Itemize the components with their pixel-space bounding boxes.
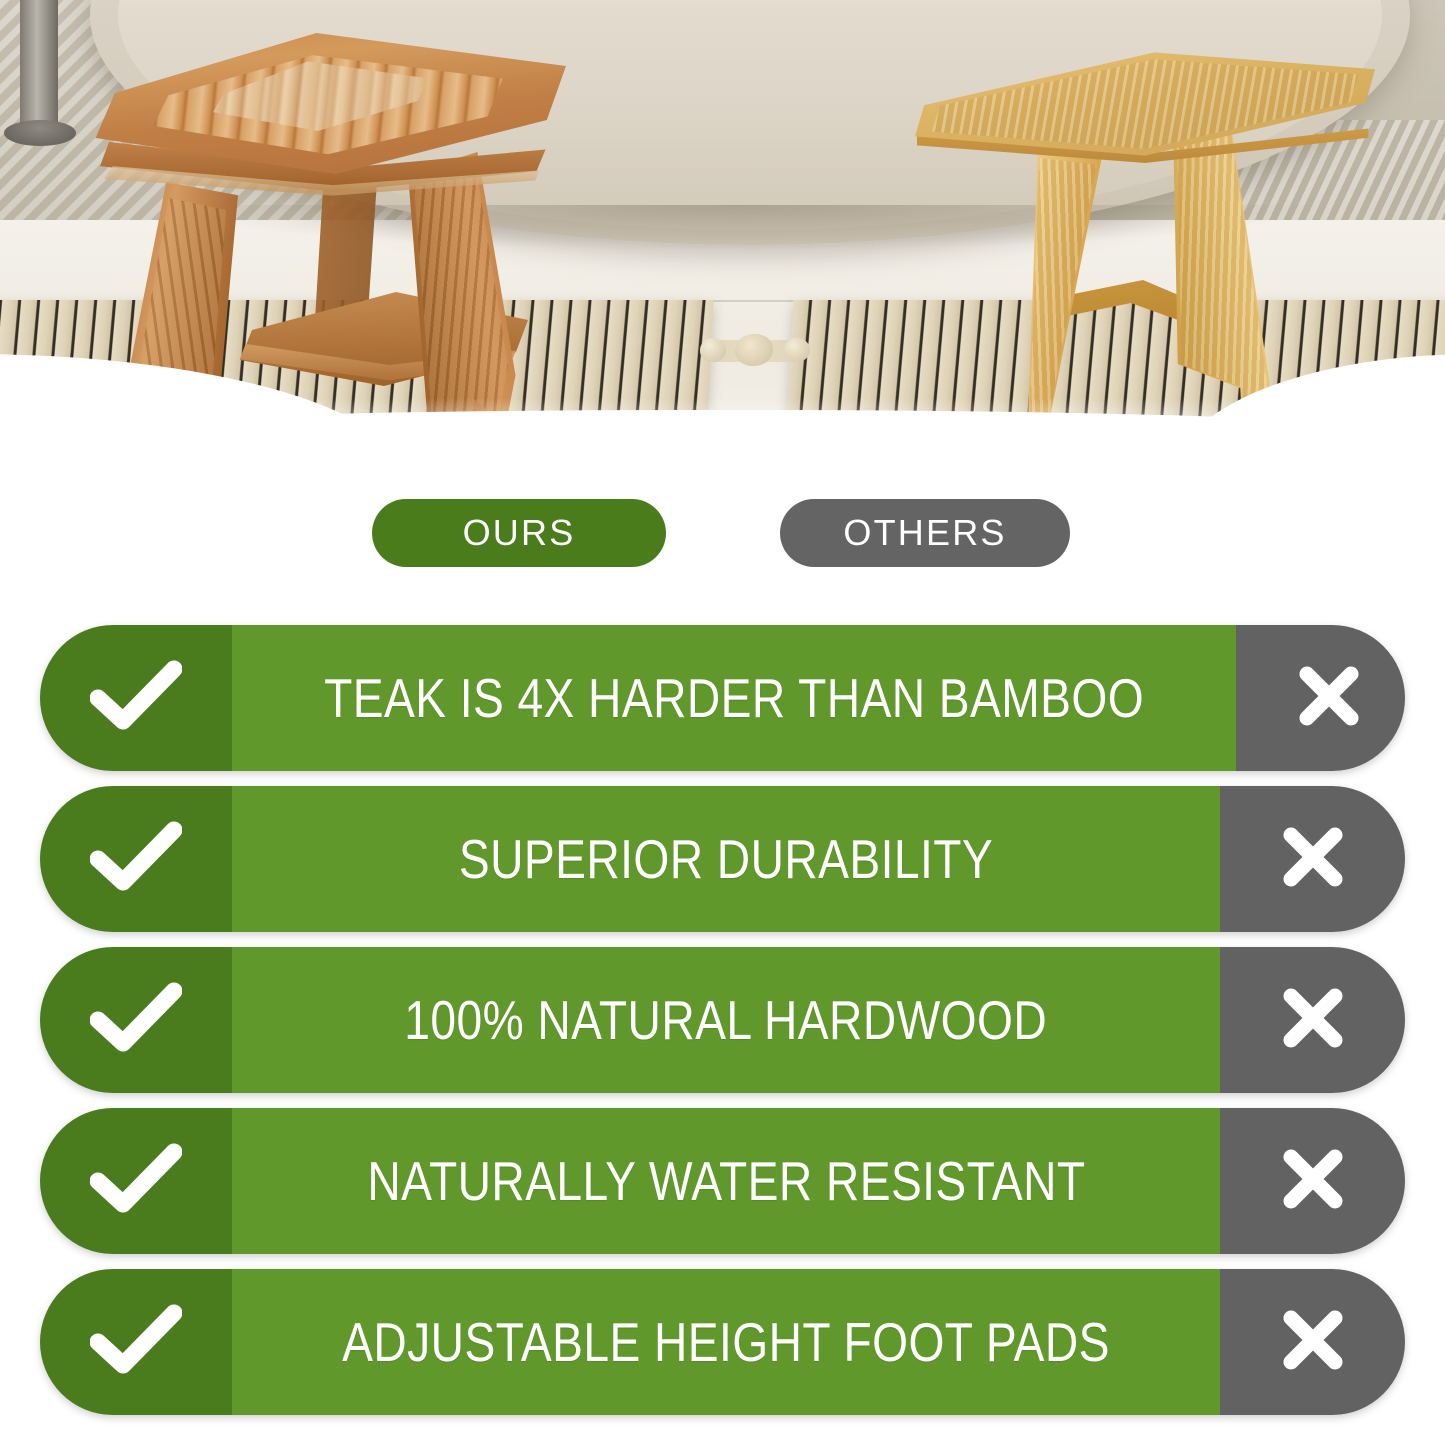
ours-check-cell <box>40 786 232 932</box>
x-icon <box>1280 824 1346 895</box>
ours-check-cell <box>40 947 232 1093</box>
x-icon <box>1280 1307 1346 1378</box>
feature-row: SUPERIOR DURABILITY <box>40 786 1405 932</box>
ours-check-cell <box>40 1269 232 1415</box>
feature-label-cell: 100% NATURAL HARDWOOD <box>232 947 1220 1093</box>
ours-check-cell <box>40 625 232 771</box>
check-icon <box>90 979 182 1062</box>
x-icon <box>1280 1146 1346 1217</box>
rope-knot <box>735 334 773 366</box>
rope-bead <box>784 338 810 362</box>
feature-label: TEAK IS 4X HARDER THAN BAMBOO <box>324 666 1144 730</box>
faucet-icon <box>20 0 58 135</box>
others-cross-cell <box>1220 1269 1405 1415</box>
check-icon <box>90 818 182 901</box>
x-icon <box>1296 663 1362 734</box>
feature-label-cell: NATURALLY WATER RESISTANT <box>232 1108 1220 1254</box>
ours-label-text: OURS <box>463 512 576 554</box>
feature-row: NATURALLY WATER RESISTANT <box>40 1108 1405 1254</box>
feature-label-cell: SUPERIOR DURABILITY <box>232 786 1220 932</box>
others-cross-cell <box>1220 947 1405 1093</box>
x-icon <box>1280 985 1346 1056</box>
feature-label: SUPERIOR DURABILITY <box>459 827 993 891</box>
check-icon <box>90 1301 182 1384</box>
feature-row: TEAK IS 4X HARDER THAN BAMBOO <box>40 625 1405 771</box>
product-comparison-photo <box>0 0 1445 560</box>
feature-row: ADJUSTABLE HEIGHT FOOT PADS <box>40 1269 1405 1415</box>
check-icon <box>90 657 182 740</box>
faucet-base <box>4 120 76 146</box>
feature-row: 100% NATURAL HARDWOOD <box>40 947 1405 1093</box>
feature-label: NATURALLY WATER RESISTANT <box>367 1149 1085 1213</box>
others-cross-cell <box>1220 786 1405 932</box>
comparison-label-row: OURS OTHERS <box>0 499 1445 571</box>
feature-label: ADJUSTABLE HEIGHT FOOT PADS <box>342 1310 1110 1374</box>
feature-comparison-list: TEAK IS 4X HARDER THAN BAMBOOSUPERIOR DU… <box>0 625 1445 1430</box>
check-icon <box>90 1140 182 1223</box>
others-cross-cell <box>1236 625 1405 771</box>
feature-label: 100% NATURAL HARDWOOD <box>405 988 1048 1052</box>
others-cross-cell <box>1220 1108 1405 1254</box>
rope-bead <box>700 338 726 362</box>
ours-check-cell <box>40 1108 232 1254</box>
ours-label-pill: OURS <box>372 499 666 567</box>
feature-label-cell: TEAK IS 4X HARDER THAN BAMBOO <box>232 625 1236 771</box>
others-label-text: OTHERS <box>843 512 1006 554</box>
feature-label-cell: ADJUSTABLE HEIGHT FOOT PADS <box>232 1269 1220 1415</box>
others-label-pill: OTHERS <box>780 499 1070 567</box>
